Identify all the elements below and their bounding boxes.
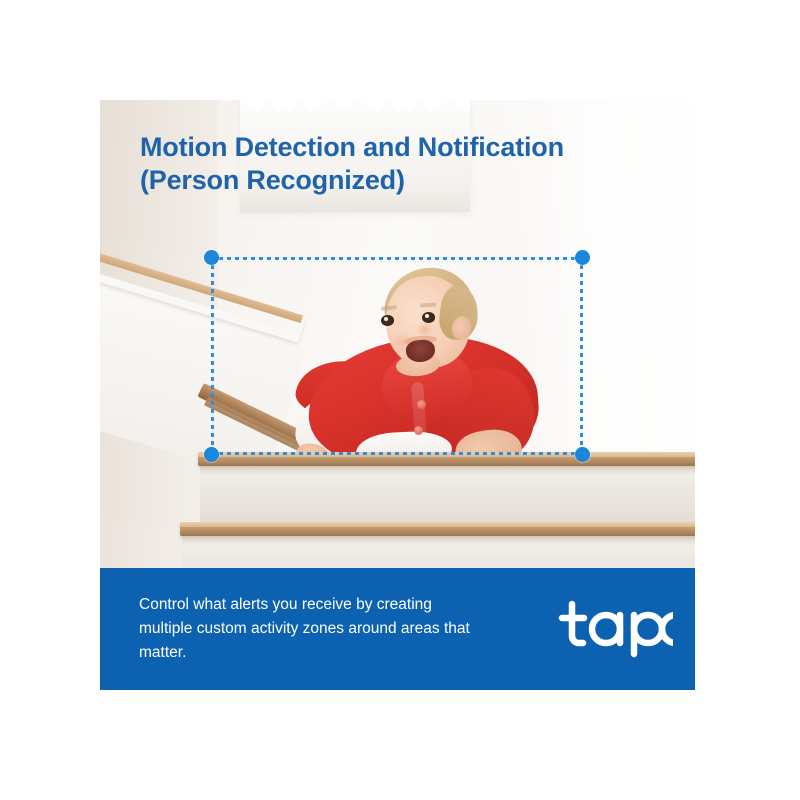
zone-handle-bottom-left[interactable] bbox=[204, 447, 219, 462]
caption-line-1: Control what alerts you receive by creat… bbox=[139, 593, 491, 617]
zone-border-top bbox=[211, 257, 583, 260]
zone-border-left bbox=[211, 257, 214, 455]
zone-border-right bbox=[580, 257, 583, 455]
caption-line-3: matter. bbox=[139, 641, 491, 665]
feature-title-line-2: (Person Recognized) bbox=[140, 164, 660, 197]
window-blind-scallop bbox=[240, 100, 470, 114]
stair-tread-lower-highlight bbox=[180, 522, 695, 527]
activity-zone-box[interactable] bbox=[211, 257, 583, 455]
feature-title: Motion Detection and Notification (Perso… bbox=[140, 131, 660, 197]
zone-border-bottom bbox=[211, 452, 583, 455]
caption-text: Control what alerts you receive by creat… bbox=[139, 593, 491, 665]
tapo-logo bbox=[558, 596, 673, 658]
caption-banner: Control what alerts you receive by creat… bbox=[100, 568, 695, 690]
feature-title-line-1: Motion Detection and Notification bbox=[140, 131, 660, 164]
zone-handle-bottom-right[interactable] bbox=[575, 447, 590, 462]
caption-line-2: multiple custom activity zones around ar… bbox=[139, 617, 491, 641]
zone-handle-top-right[interactable] bbox=[575, 250, 590, 265]
zone-handle-top-left[interactable] bbox=[204, 250, 219, 265]
stair-riser-lower-shadow bbox=[182, 536, 695, 546]
feature-card-canvas: Motion Detection and Notification (Perso… bbox=[0, 0, 800, 800]
stair-riser-upper-shadow bbox=[200, 466, 695, 476]
